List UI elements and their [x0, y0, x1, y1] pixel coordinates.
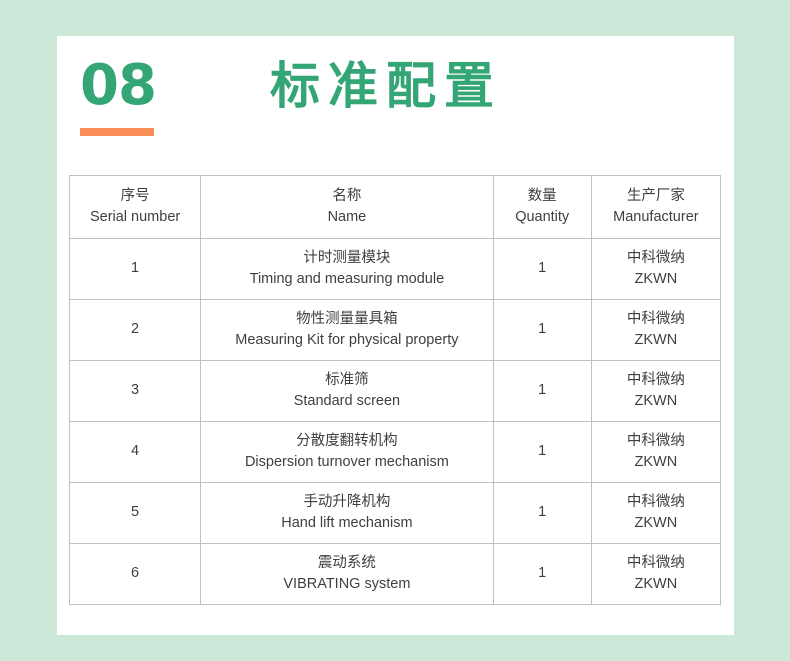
cell-quantity: 1 — [493, 300, 591, 361]
column-header-serial-number-en: Serial number — [70, 207, 200, 228]
manufacturer-en: ZKWN — [592, 391, 720, 412]
cell-serial-number: 6 — [70, 544, 201, 605]
column-header-quantity: 数量 Quantity — [493, 176, 591, 239]
column-header-name-en: Name — [201, 207, 492, 228]
cell-serial-number: 1 — [70, 239, 201, 300]
quantity-value: 1 — [494, 380, 591, 401]
cell-quantity: 1 — [493, 239, 591, 300]
quantity-value: 1 — [494, 258, 591, 279]
serial-number-value: 5 — [70, 502, 200, 523]
column-header-manufacturer-en: Manufacturer — [592, 207, 720, 228]
section-number-block: 08 — [80, 58, 158, 136]
table-row: 2 物性测量量具箱 Measuring Kit for physical pro… — [70, 300, 721, 361]
serial-number-value: 2 — [70, 319, 200, 340]
quantity-value: 1 — [494, 441, 591, 462]
table-row: 1 计时测量模块 Timing and measuring module 1 中… — [70, 239, 721, 300]
item-name-en: VIBRATING system — [201, 574, 492, 595]
section-header: 08 标准配置 — [57, 36, 734, 175]
item-name-cn: 计时测量模块 — [201, 248, 492, 269]
cell-quantity: 1 — [493, 361, 591, 422]
cell-name: 物性测量量具箱 Measuring Kit for physical prope… — [201, 300, 493, 361]
item-name-en: Measuring Kit for physical property — [201, 330, 492, 351]
manufacturer-en: ZKWN — [592, 574, 720, 595]
column-header-name-cn: 名称 — [201, 186, 492, 207]
cell-serial-number: 3 — [70, 361, 201, 422]
manufacturer-cn: 中科微纳 — [592, 248, 720, 269]
section-number: 08 — [80, 58, 158, 114]
quantity-value: 1 — [494, 502, 591, 523]
cell-quantity: 1 — [493, 483, 591, 544]
manufacturer-cn: 中科微纳 — [592, 553, 720, 574]
manufacturer-en: ZKWN — [592, 513, 720, 534]
cell-quantity: 1 — [493, 422, 591, 483]
cell-name: 手动升降机构 Hand lift mechanism — [201, 483, 493, 544]
cell-manufacturer: 中科微纳 ZKWN — [591, 361, 720, 422]
serial-number-value: 1 — [70, 258, 200, 279]
item-name-cn: 分散度翻转机构 — [201, 431, 492, 452]
cell-manufacturer: 中科微纳 ZKWN — [591, 544, 720, 605]
table-row: 5 手动升降机构 Hand lift mechanism 1 中科微纳 ZKWN — [70, 483, 721, 544]
column-header-quantity-cn: 数量 — [494, 186, 591, 207]
item-name-en: Timing and measuring module — [201, 269, 492, 290]
page-title: 标准配置 — [270, 58, 502, 116]
cell-manufacturer: 中科微纳 ZKWN — [591, 422, 720, 483]
item-name-cn: 标准筛 — [201, 370, 492, 391]
cell-name: 标准筛 Standard screen — [201, 361, 493, 422]
item-name-en: Hand lift mechanism — [201, 513, 492, 534]
table-row: 6 震动系统 VIBRATING system 1 中科微纳 ZKWN — [70, 544, 721, 605]
page-root: 08 标准配置 序号 Serial number 名称 — [0, 0, 790, 661]
manufacturer-cn: 中科微纳 — [592, 370, 720, 391]
column-header-manufacturer: 生产厂家 Manufacturer — [591, 176, 720, 239]
manufacturer-cn: 中科微纳 — [592, 309, 720, 330]
manufacturer-en: ZKWN — [592, 330, 720, 351]
manufacturer-cn: 中科微纳 — [592, 492, 720, 513]
column-header-name: 名称 Name — [201, 176, 493, 239]
cell-manufacturer: 中科微纳 ZKWN — [591, 239, 720, 300]
table-header-row: 序号 Serial number 名称 Name 数量 Quantity 生产厂… — [70, 176, 721, 239]
column-header-serial-number: 序号 Serial number — [70, 176, 201, 239]
table-row: 4 分散度翻转机构 Dispersion turnover mechanism … — [70, 422, 721, 483]
cell-serial-number: 2 — [70, 300, 201, 361]
table-row: 3 标准筛 Standard screen 1 中科微纳 ZKWN — [70, 361, 721, 422]
serial-number-value: 3 — [70, 380, 200, 401]
manufacturer-cn: 中科微纳 — [592, 431, 720, 452]
column-header-manufacturer-cn: 生产厂家 — [592, 186, 720, 207]
cell-serial-number: 5 — [70, 483, 201, 544]
cell-serial-number: 4 — [70, 422, 201, 483]
column-header-quantity-en: Quantity — [494, 207, 591, 228]
item-name-cn: 震动系统 — [201, 553, 492, 574]
column-header-serial-number-cn: 序号 — [70, 186, 200, 207]
accent-underline-bar — [80, 128, 154, 136]
cell-name: 震动系统 VIBRATING system — [201, 544, 493, 605]
quantity-value: 1 — [494, 563, 591, 584]
content-card: 08 标准配置 序号 Serial number 名称 — [57, 36, 734, 635]
manufacturer-en: ZKWN — [592, 452, 720, 473]
standard-configuration-table: 序号 Serial number 名称 Name 数量 Quantity 生产厂… — [69, 175, 721, 605]
serial-number-value: 4 — [70, 441, 200, 462]
serial-number-value: 6 — [70, 563, 200, 584]
item-name-cn: 物性测量量具箱 — [201, 309, 492, 330]
item-name-en: Standard screen — [201, 391, 492, 412]
cell-manufacturer: 中科微纳 ZKWN — [591, 300, 720, 361]
quantity-value: 1 — [494, 319, 591, 340]
manufacturer-en: ZKWN — [592, 269, 720, 290]
item-name-cn: 手动升降机构 — [201, 492, 492, 513]
item-name-en: Dispersion turnover mechanism — [201, 452, 492, 473]
cell-quantity: 1 — [493, 544, 591, 605]
cell-manufacturer: 中科微纳 ZKWN — [591, 483, 720, 544]
cell-name: 计时测量模块 Timing and measuring module — [201, 239, 493, 300]
cell-name: 分散度翻转机构 Dispersion turnover mechanism — [201, 422, 493, 483]
